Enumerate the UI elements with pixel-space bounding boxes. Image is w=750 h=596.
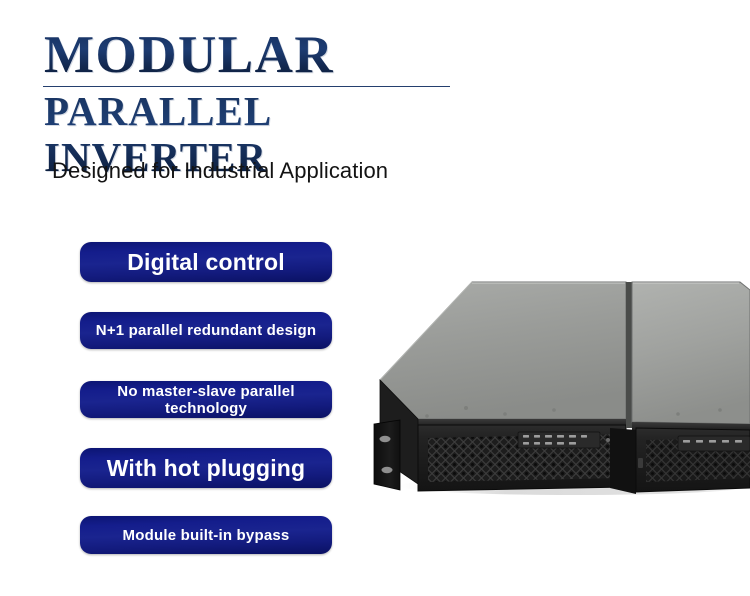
title-divider-rule — [43, 86, 450, 87]
top-screw — [718, 408, 722, 412]
inverter-modules-illustration — [360, 262, 750, 506]
top-screw — [464, 406, 468, 410]
feature-pill-label: With hot plugging — [107, 455, 306, 482]
rack-ear-slot — [380, 436, 391, 442]
feature-pill-label: Module built-in bypass — [123, 527, 290, 544]
module-left-rack-ear — [374, 420, 400, 490]
module-left-status-led — [606, 438, 610, 442]
page-title-line-1: MODULAR — [0, 28, 470, 83]
top-screw — [552, 408, 556, 412]
feature-pill-n-plus-1-redundant[interactable]: N+1 parallel redundant design — [80, 312, 332, 349]
top-screw — [676, 412, 680, 416]
feature-pill-built-in-bypass[interactable]: Module built-in bypass — [80, 516, 332, 554]
rack-ear-slot — [382, 467, 393, 473]
module-right-top-cover — [632, 282, 750, 424]
module-left-top-cover — [380, 282, 626, 419]
inverter-module-right — [610, 282, 750, 494]
module-seam — [626, 282, 632, 428]
feature-pill-label: No master-slave parallel technology — [88, 383, 324, 417]
module-right-latch[interactable] — [638, 458, 643, 468]
product-photo — [360, 262, 750, 506]
top-screw — [503, 412, 507, 416]
feature-pill-hot-plugging[interactable]: With hot plugging — [80, 448, 332, 488]
feature-pill-digital-control[interactable]: Digital control — [80, 242, 332, 282]
page-subtitle: Designed for Industrial Application — [52, 158, 388, 184]
inverter-module-left — [374, 282, 626, 491]
poster-canvas: MODULAR PARALLEL INVERTER Designed for I… — [0, 0, 750, 596]
module-right-control-strip[interactable] — [678, 436, 750, 451]
module-left-control-strip[interactable] — [518, 432, 600, 448]
top-screw — [425, 414, 429, 418]
feature-pill-no-master-slave[interactable]: No master-slave parallel technology — [80, 381, 332, 418]
feature-pill-label: Digital control — [127, 249, 285, 276]
module-right-side-recess — [610, 428, 636, 494]
feature-pill-label: N+1 parallel redundant design — [96, 322, 316, 339]
